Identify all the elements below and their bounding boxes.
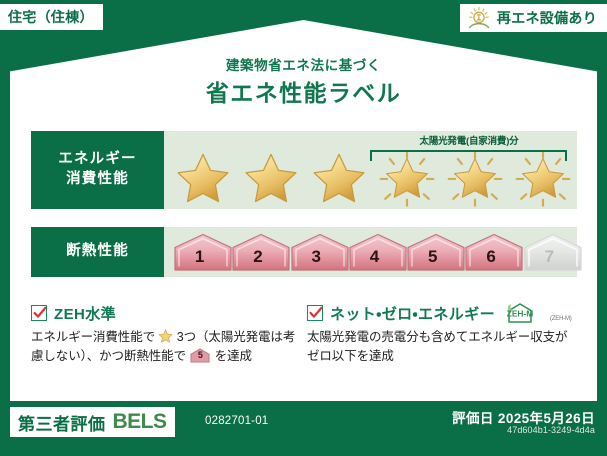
feature-zeh-standard: ZEH水準 エネルギー消費性能で 3つ（太陽光発電は考慮しない）、かつ断熱性能で… [31,303,301,366]
insulation-level-number: 6 [486,248,495,272]
sun-icon [466,6,492,30]
insulation-level-number: 5 [428,248,437,272]
energy-key-line1: エネルギー [58,150,137,170]
feature-nze-title: ネット・ゼロ・エネルギー [330,303,495,324]
check-icon [307,305,323,321]
feature-nze-body: 太陽光発電の売電分も含めてエネルギー収支がゼロ以下を達成 [307,328,579,366]
evaluation-date: 評価日 2025年5月26日 [452,407,595,427]
insulation-level-7: 7 [522,232,577,272]
feature-zeh-body: エネルギー消費性能で 3つ（太陽光発電は考慮しない）、かつ断熱性能で 5 を達成 [31,328,301,366]
renewable-equipment-label: 再エネ設備あり [497,8,597,28]
insulation-badge-inline: 5 [190,348,210,363]
evaluation-uid: 47d604b1-3249-4d4a [507,425,595,435]
insulation-level-2: 2 [230,232,285,272]
label-subtitle: 建築物省エネ法に基づく [0,54,607,74]
insulation-level-scale: 1234567 [164,227,577,277]
insulation-level-number: 3 [311,248,320,272]
energy-performance-row: エネルギー 消費性能 太陽光発電(自家消費)分 [31,131,577,209]
bels-jp-label: 第三者評価 [18,410,106,435]
feature-zeh-header: ZEH水準 [31,303,301,323]
star-solid [238,149,304,207]
insulation-level-number: 2 [253,248,262,272]
star-solid [306,149,372,207]
insulation-level-1: 1 [172,232,227,272]
renewable-equipment-badge: 再エネ設備あり [460,4,607,32]
insulation-performance-value: 1234567 [164,227,577,277]
solar-bracket-label: 太陽光発電(自家消費)分 [360,133,578,147]
solar-bracket [370,150,567,161]
feature-nze-header: ネット・ゼロ・エネルギー ZEH-M (ZEH-M) [307,303,579,323]
feature-net-zero-energy: ネット・ゼロ・エネルギー ZEH-M (ZEH-M) 太陽光発電の売電分も含めて… [307,303,579,366]
star-icon [158,329,173,343]
insulation-level-number: 7 [545,248,554,272]
check-icon [31,305,47,321]
insulation-level-6: 6 [463,232,518,272]
star-solid [170,149,236,207]
insulation-performance-key: 断熱性能 [31,227,164,277]
feature-zeh-body-pre: エネルギー消費性能で [31,330,155,344]
bels-en-label: BELS [113,410,167,434]
insulation-badge-value: 5 [190,349,210,363]
energy-performance-label: 住宅（住棟） 再エネ設備あり 建築物省エネ法に基づく 省エネ性能ラベル エネルギ… [0,0,607,456]
feature-zeh-title: ZEH水準 [54,303,116,324]
energy-key-line2: 消費性能 [66,170,129,190]
label-title: 省エネ性能ラベル [0,74,607,108]
feature-zeh-body-post: を達成 [215,349,252,363]
building-type-label: 住宅（住棟） [8,7,94,27]
building-type-badge: 住宅（住棟） [0,4,103,30]
bels-number: 0282701-01 [205,415,268,427]
energy-performance-value: 太陽光発電(自家消費)分 [164,131,577,209]
insulation-level-number: 4 [370,248,379,272]
insulation-key-label: 断熱性能 [66,242,129,262]
zeh-m-logo-caption: (ZEH-M) [550,316,572,323]
bels-certification-badge: 第三者評価 BELS [10,407,175,437]
insulation-level-5: 5 [405,232,460,272]
svg-text:ZEH-M: ZEH-M [507,309,534,319]
insulation-level-number: 1 [195,248,204,272]
zeh-m-logo-icon: ZEH-M [500,302,542,324]
energy-performance-key: エネルギー 消費性能 [31,131,164,209]
label-footer: 第三者評価 BELS 0282701-01 評価日 2025年5月26日 47d… [0,401,607,456]
insulation-level-4: 4 [347,232,402,272]
insulation-performance-row: 断熱性能 1234567 [31,227,577,277]
insulation-level-3: 3 [289,232,344,272]
